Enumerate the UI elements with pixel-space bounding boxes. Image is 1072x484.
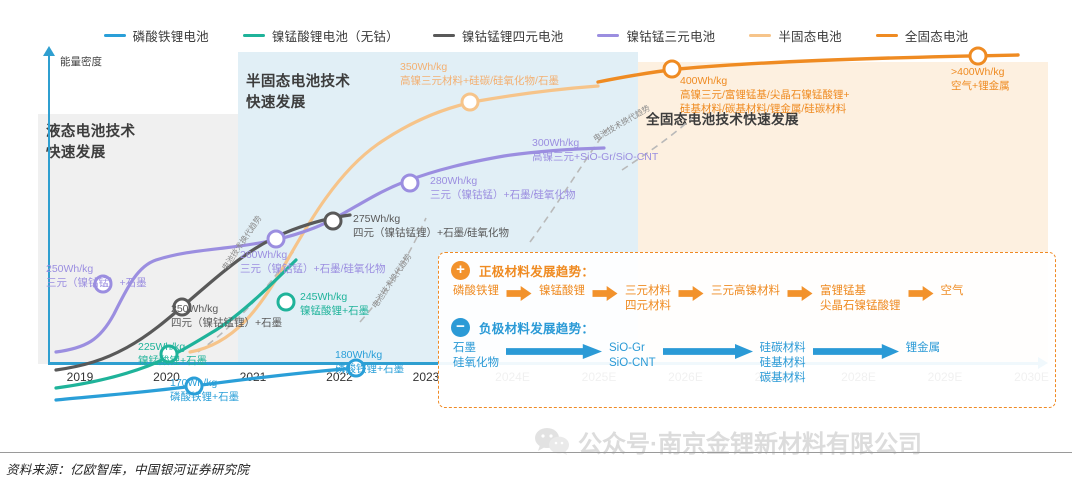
arrow-right-long-icon [506,344,602,359]
legend-label-semi-solid-state: 半固态电池 [778,26,842,45]
legend-item-nmca-quaternary: 镍钴锰锂四元电池 [433,26,564,45]
legend-label-all-solid-state: 全固态电池 [905,26,969,45]
cathode-node-5-line1: 空气 [941,284,964,299]
node-ncm-260 [267,230,286,249]
legend-label-lfp: 磷酸铁锂电池 [133,26,209,45]
arrow-right-long-icon [813,344,899,359]
data-label-350: 350Wh/kg 高镍三元材料+硅碳/硅氧化物/石墨 [400,60,559,88]
cathode-node-4: 富锂锰基尖晶石镍锰酸锂 [820,284,901,314]
legend-swatch-ncm-ternary [597,34,619,37]
node-solid-400p [969,47,988,66]
data-label-225-value: 225Wh/kg [138,340,207,354]
data-label-250-quat-desc: 四元（镍钴锰锂）+石墨 [171,316,282,330]
node-quat-275 [324,212,343,231]
legend-label-lnmo-cobalt-free: 镍锰酸锂电池（无钴） [272,26,399,45]
data-label-250-quat-value: 250Wh/kg [171,302,282,316]
anode-node-3: 锂金属 [906,341,941,356]
anode-node-2-line2: 硅基材料 [760,356,806,371]
data-label-260-desc: 三元（镍钴锰）+石墨/硅氧化物 [240,262,386,276]
cathode-node-1-line1: 镍锰酸锂 [539,284,585,299]
cathode-title: 正极材料发展趋势： [479,261,594,280]
data-label-180-desc: 磷酸铁锂+石墨 [335,362,404,376]
data-label-400plus-value: >400Wh/kg [951,65,1010,79]
anode-node-2-line3: 碳基材料 [760,371,806,386]
arrow-right-icon [678,286,704,301]
data-label-180-value: 180Wh/kg [335,348,404,362]
legend-swatch-semi-solid-state [749,34,771,37]
node-ncm-280 [401,174,420,193]
data-label-300-desc: 高镍三元+SiO-Gr/SiO-CNT [532,150,658,164]
node-solid-400 [663,60,682,79]
anode-node-0: 石墨硅氧化物 [453,341,499,371]
cathode-node-3: 三元高镍材料 [711,284,780,299]
data-label-280: 280Wh/kg 三元（镍钴锰）+石墨/硅氧化物 [430,174,576,202]
data-label-275: 275Wh/kg 四元（镍钴锰锂）+石墨/硅氧化物 [353,212,509,240]
data-label-400plus: >400Wh/kg 空气+锂金属 [951,65,1010,93]
data-label-275-desc: 四元（镍钴锰锂）+石墨/硅氧化物 [353,226,509,240]
data-label-250-ncm-desc: 三元（镍钴锰）+石墨 [46,276,147,290]
cathode-node-4-line2: 尖晶石镍锰酸锂 [820,299,901,314]
anode-node-1-line2: SiO-CNT [609,356,656,371]
cathode-node-0: 磷酸铁锂 [453,284,499,299]
data-label-245-desc: 镍锰酸锂+石墨 [300,304,369,318]
data-label-250-ncm: 250Wh/kg 三元（镍钴锰）+石墨 [46,262,147,290]
anode-node-2-line1: 硅碳材料 [760,341,806,356]
cathode-header: + 正极材料发展趋势： [451,261,1043,280]
data-label-245: 245Wh/kg 镍锰酸锂+石墨 [300,290,369,318]
cathode-node-5: 空气 [941,284,964,299]
arrow-right-icon [908,286,934,301]
legend-swatch-all-solid-state [876,34,898,37]
cathode-node-4-line1: 富锂锰基 [820,284,901,299]
data-label-170: 170Wh/kg 磷酸铁锂+石墨 [170,376,239,404]
cathode-node-2-line1: 三元材料 [625,284,671,299]
cathode-arrow-5 [908,286,934,306]
legend-item-semi-solid-state: 半固态电池 [749,26,842,45]
data-label-245-value: 245Wh/kg [300,290,369,304]
cathode-node-2: 三元材料四元材料 [625,284,671,314]
data-label-275-value: 275Wh/kg [353,212,509,226]
data-label-400-desc1: 高镍三元/富锂锰基/尖晶石镍锰酸锂+ [680,88,849,102]
cathode-node-2-line2: 四元材料 [625,299,671,314]
legend-swatch-nmca-quaternary [433,34,455,37]
material-trend-box: + 正极材料发展趋势： 磷酸铁锂镍锰酸锂三元材料四元材料三元高镍材料富锂锰基尖晶… [438,252,1056,408]
minus-icon: − [451,318,470,337]
chart-legend: 磷酸铁锂电池镍锰酸锂电池（无钴）镍钴锰锂四元电池镍钴锰三元电池半固态电池全固态电… [0,22,1072,48]
plus-icon: + [451,261,470,280]
data-label-260-value: 260Wh/kg [240,248,386,262]
data-label-400: 400Wh/kg 高镍三元/富锂锰基/尖晶石镍锰酸锂+ 硅基材料/碳基材料/锂金… [680,74,849,117]
anode-node-1: SiO-GrSiO-CNT [609,341,656,371]
anode-node-1-line1: SiO-Gr [609,341,656,356]
legend-label-nmca-quaternary: 镍钴锰锂四元电池 [462,26,564,45]
arrow-right-icon [592,286,618,301]
data-label-350-value: 350Wh/kg [400,60,559,74]
cathode-arrow-3 [678,286,704,306]
data-label-225-desc: 镍锰酸锂+石墨 [138,354,207,368]
data-label-350-desc: 高镍三元材料+硅碳/硅氧化物/石墨 [400,74,559,88]
legend-item-all-solid-state: 全固态电池 [876,26,969,45]
anode-node-3-line1: 锂金属 [906,341,941,356]
anode-arrow-1 [506,344,602,364]
anode-node-2: 硅碳材料硅基材料碳基材料 [760,341,806,386]
data-label-280-desc: 三元（镍钴锰）+石墨/硅氧化物 [430,188,576,202]
cathode-arrow-2 [592,286,618,306]
arrow-right-icon [787,286,813,301]
data-label-225: 225Wh/kg 镍锰酸锂+石墨 [138,340,207,368]
anode-node-0-line1: 石墨 [453,341,499,356]
cathode-arrow-4 [787,286,813,306]
data-label-400-value: 400Wh/kg [680,74,849,88]
data-label-170-value: 170Wh/kg [170,376,239,390]
data-label-400-desc2: 硅基材料/碳基材料/锂金属/硅碳材料 [680,102,849,116]
footer-divider [0,452,1072,453]
legend-swatch-lnmo-cobalt-free [243,34,265,37]
cathode-node-0-line1: 磷酸铁锂 [453,284,499,299]
anode-arrow-2 [663,344,753,364]
legend-item-ncm-ternary: 镍钴锰三元电池 [597,26,715,45]
cathode-node-1: 镍锰酸锂 [539,284,585,299]
arrow-right-long-icon [663,344,753,359]
data-label-280-value: 280Wh/kg [430,174,576,188]
cathode-node-3-line1: 三元高镍材料 [711,284,780,299]
cathode-arrow-1 [506,286,532,306]
node-semi-350 [461,93,480,112]
anode-title: 负极材料发展趋势： [479,318,594,337]
watermark-text: 公众号·南京金锂新材料有限公司 [578,424,922,459]
source-text: 资料来源：亿欧智库，中国银河证券研究院 [6,459,249,478]
data-label-170-desc: 磷酸铁锂+石墨 [170,390,239,404]
data-label-250-ncm-value: 250Wh/kg [46,262,147,276]
data-label-400plus-desc: 空气+锂金属 [951,79,1010,93]
anode-node-0-line2: 硅氧化物 [453,356,499,371]
data-label-180: 180Wh/kg 磷酸铁锂+石墨 [335,348,404,376]
cathode-chain: 磷酸铁锂镍锰酸锂三元材料四元材料三元高镍材料富锂锰基尖晶石镍锰酸锂空气 [453,284,1043,314]
legend-item-lnmo-cobalt-free: 镍锰酸锂电池（无钴） [243,26,399,45]
anode-header: − 负极材料发展趋势： [451,318,1043,337]
data-label-260: 260Wh/kg 三元（镍钴锰）+石墨/硅氧化物 [240,248,386,276]
data-label-250-quat: 250Wh/kg 四元（镍钴锰锂）+石墨 [171,302,282,330]
legend-item-lfp: 磷酸铁锂电池 [104,26,209,45]
arrow-right-icon [506,286,532,301]
anode-arrow-3 [813,344,899,364]
legend-label-ncm-ternary: 镍钴锰三元电池 [626,26,715,45]
legend-swatch-lfp [104,34,126,37]
anode-chain: 石墨硅氧化物SiO-GrSiO-CNT硅碳材料硅基材料碳基材料锂金属 [453,341,1043,386]
